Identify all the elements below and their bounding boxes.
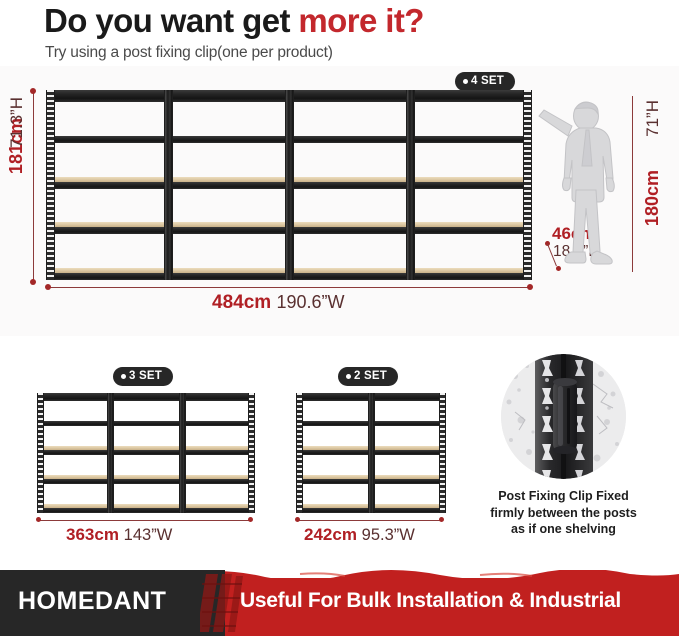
page-subtitle: Try using a post fixing clip(one per pro… bbox=[45, 44, 333, 62]
shelf-upright-post bbox=[439, 393, 446, 513]
dim-dot-2set-left bbox=[295, 517, 300, 522]
width-3set-metric-value: 363cm bbox=[66, 525, 119, 544]
shelf-beam bbox=[409, 136, 530, 143]
post-fixing-clip-photo bbox=[501, 354, 626, 479]
width-3set-imperial-value: 143”W bbox=[124, 526, 173, 544]
dim-dot-2set-right bbox=[439, 517, 444, 522]
dim-label-person-imperial: 71”H bbox=[643, 100, 663, 137]
shelving-rack-2-set bbox=[296, 393, 444, 513]
shelf-beam bbox=[288, 227, 409, 234]
shelf-level bbox=[37, 475, 109, 484]
shelf-level bbox=[46, 268, 167, 280]
shelf-level bbox=[181, 421, 253, 426]
shelf-level bbox=[370, 393, 444, 401]
shelf-level bbox=[370, 446, 444, 455]
shelf-level bbox=[409, 268, 530, 280]
shelf-beam bbox=[167, 90, 288, 102]
headline-black-part: Do you want get bbox=[44, 2, 298, 39]
shelf-level bbox=[37, 393, 109, 401]
shelf-level bbox=[37, 446, 109, 455]
shelf-beam bbox=[37, 393, 109, 401]
badge-4-set: 4 SET bbox=[455, 72, 515, 91]
shelf-level bbox=[46, 136, 167, 143]
clip-caption: Post Fixing Clip Fixed firmly between th… bbox=[486, 488, 641, 538]
shelf-level bbox=[409, 136, 530, 143]
clip-caption-line-1: Post Fixing Clip Fixed bbox=[486, 488, 641, 505]
shelf-beam bbox=[109, 421, 181, 426]
width-imperial-value: 190.6”W bbox=[276, 292, 344, 312]
headline-red-part: more it? bbox=[298, 2, 423, 39]
shelf-upright-post bbox=[296, 393, 303, 513]
width-metric-value: 484cm bbox=[212, 292, 271, 313]
shelf-beam bbox=[409, 90, 530, 102]
shelf-upright-post bbox=[285, 90, 294, 280]
dim-dot-width-left bbox=[45, 284, 51, 290]
shelf-level bbox=[296, 475, 370, 484]
dim-dot-3set-right bbox=[248, 517, 253, 522]
shelf-upright-post bbox=[368, 393, 375, 513]
dim-dot-3set-left bbox=[36, 517, 41, 522]
shelf-bay bbox=[109, 393, 181, 513]
shelf-level bbox=[37, 504, 109, 513]
shelf-level bbox=[46, 90, 167, 102]
shelf-beam bbox=[37, 421, 109, 426]
shelf-beam bbox=[46, 90, 167, 102]
shelf-beam bbox=[46, 136, 167, 143]
shelf-level bbox=[167, 177, 288, 189]
shelf-upright-post bbox=[37, 393, 44, 513]
shelf-bay bbox=[37, 393, 109, 513]
shelf-level bbox=[46, 222, 167, 234]
shelf-beam bbox=[167, 273, 288, 280]
shelf-level bbox=[409, 177, 530, 189]
dim-label-width-3set: 363cm 143”W bbox=[66, 525, 172, 545]
dim-line-person-height bbox=[632, 96, 633, 272]
shelf-beam bbox=[409, 182, 530, 189]
dim-line-width-3set bbox=[39, 520, 251, 521]
shelf-bay bbox=[288, 90, 409, 280]
shelf-beam bbox=[370, 421, 444, 426]
shelf-level bbox=[181, 475, 253, 484]
shelf-beam bbox=[109, 393, 181, 401]
dim-label-width: 484cm 190.6”W bbox=[212, 292, 344, 314]
shelf-level bbox=[409, 90, 530, 102]
shelf-level bbox=[296, 504, 370, 513]
shelf-bay bbox=[296, 393, 370, 513]
badge-2-set: 2 SET bbox=[338, 367, 398, 386]
clip-caption-line-2: firmly between the posts bbox=[486, 505, 641, 522]
shelf-beam bbox=[370, 479, 444, 484]
shelf-beam bbox=[181, 508, 253, 513]
shelf-beam bbox=[167, 227, 288, 234]
width-2set-metric-value: 242cm bbox=[304, 525, 357, 544]
shelf-beam bbox=[296, 479, 370, 484]
shelf-level bbox=[109, 421, 181, 426]
shelf-beam bbox=[370, 393, 444, 401]
shelf-level bbox=[288, 136, 409, 143]
shelf-beam bbox=[409, 227, 530, 234]
shelf-level bbox=[167, 90, 288, 102]
bullet-dot-icon bbox=[346, 374, 351, 379]
shelf-level bbox=[288, 177, 409, 189]
shelf-beam bbox=[167, 182, 288, 189]
shelf-beam bbox=[296, 421, 370, 426]
shelf-level bbox=[409, 222, 530, 234]
shelf-beam bbox=[109, 508, 181, 513]
shelf-level bbox=[181, 504, 253, 513]
dim-label-height-imperial-text: 71.3”H bbox=[7, 97, 27, 148]
shelf-upright-post bbox=[46, 90, 55, 280]
shelf-level bbox=[181, 446, 253, 455]
shelf-beam bbox=[296, 508, 370, 513]
shelving-rack-3-set bbox=[37, 393, 253, 513]
brand-logo: HOMEDANT bbox=[18, 587, 166, 616]
mid-section: 3 SET 363cm 143”W 2 SET 242cm 95.3”W bbox=[0, 336, 679, 566]
shelf-beam bbox=[46, 182, 167, 189]
clip-caption-line-3: as if one shelving bbox=[486, 521, 641, 538]
shelf-beam bbox=[37, 508, 109, 513]
badge-4-set-label: 4 SET bbox=[471, 75, 504, 87]
shelf-level bbox=[288, 222, 409, 234]
shelf-beam bbox=[181, 450, 253, 455]
shelf-bay bbox=[46, 90, 167, 280]
shelf-level bbox=[46, 177, 167, 189]
shelf-beam bbox=[288, 136, 409, 143]
shelf-bay bbox=[370, 393, 444, 513]
shelf-level bbox=[109, 446, 181, 455]
shelf-beam bbox=[370, 450, 444, 455]
shelf-level bbox=[370, 504, 444, 513]
shelf-beam bbox=[167, 136, 288, 143]
footer-tagline: Useful For Bulk Installation & Industria… bbox=[240, 589, 621, 613]
badge-2-set-label: 2 SET bbox=[354, 370, 387, 382]
shelf-beam bbox=[370, 508, 444, 513]
shelf-level bbox=[37, 421, 109, 426]
shelf-beam bbox=[109, 479, 181, 484]
width-2set-imperial-value: 95.3”W bbox=[362, 526, 415, 544]
person-height-imperial-value: 71”H bbox=[643, 100, 662, 137]
shelf-bay bbox=[167, 90, 288, 280]
shelf-beam bbox=[181, 421, 253, 426]
shelf-beam bbox=[181, 393, 253, 401]
shelf-level bbox=[167, 222, 288, 234]
shelving-rack-4-set bbox=[46, 90, 530, 280]
shelf-upright-post bbox=[248, 393, 255, 513]
shelf-bay bbox=[409, 90, 530, 280]
shelf-bay bbox=[181, 393, 253, 513]
bullet-dot-icon bbox=[121, 374, 126, 379]
shelf-level bbox=[296, 421, 370, 426]
dim-dot-width-right bbox=[527, 284, 533, 290]
shelf-beam bbox=[409, 273, 530, 280]
dim-line-height-left bbox=[33, 90, 34, 282]
shelf-beam bbox=[109, 450, 181, 455]
product-infographic: Do you want get more it? Try using a pos… bbox=[0, 0, 679, 636]
dim-line-width-2set bbox=[298, 520, 442, 521]
shelf-beam bbox=[296, 450, 370, 455]
shelf-level bbox=[370, 421, 444, 426]
shelf-beam bbox=[288, 90, 409, 102]
shelf-level bbox=[296, 446, 370, 455]
page-title: Do you want get more it? bbox=[44, 2, 424, 40]
shelf-upright-post bbox=[107, 393, 114, 513]
shelf-level bbox=[167, 136, 288, 143]
badge-3-set: 3 SET bbox=[113, 367, 173, 386]
dim-dot-height-bottom bbox=[30, 279, 36, 285]
shelf-beam bbox=[181, 479, 253, 484]
hero-section: Do you want get more it? Try using a pos… bbox=[0, 0, 679, 336]
badge-3-set-label: 3 SET bbox=[129, 370, 162, 382]
bullet-dot-icon bbox=[463, 79, 468, 84]
shelf-upright-post bbox=[523, 90, 532, 280]
footer-bar: HOMEDANT Useful For Bulk Installation & … bbox=[0, 570, 679, 636]
shelf-upright-post bbox=[179, 393, 186, 513]
shelf-level bbox=[109, 393, 181, 401]
clip-photo-graphic bbox=[501, 354, 626, 479]
shelf-level bbox=[109, 475, 181, 484]
shelf-level bbox=[370, 475, 444, 484]
shelf-level bbox=[288, 268, 409, 280]
shelf-beam bbox=[37, 479, 109, 484]
shelf-beam bbox=[37, 450, 109, 455]
dim-dot-height-top bbox=[30, 88, 36, 94]
shelf-level bbox=[288, 90, 409, 102]
shelf-level bbox=[109, 504, 181, 513]
dim-label-person-metric: 180cm bbox=[642, 170, 663, 226]
shelf-beam bbox=[46, 273, 167, 280]
shelf-beam bbox=[296, 393, 370, 401]
shelf-upright-post bbox=[164, 90, 173, 280]
shelf-level bbox=[296, 393, 370, 401]
shelf-beam bbox=[288, 182, 409, 189]
shelf-beam bbox=[288, 273, 409, 280]
height-imperial-value: 71.3”H bbox=[7, 97, 26, 148]
shelf-upright-post bbox=[406, 90, 415, 280]
dim-label-width-2set: 242cm 95.3”W bbox=[304, 525, 415, 545]
shelf-beam bbox=[46, 227, 167, 234]
dim-line-width-bottom bbox=[48, 287, 530, 288]
man-silhouette-icon bbox=[528, 92, 638, 282]
shelf-level bbox=[181, 393, 253, 401]
person-height-metric-value: 180cm bbox=[642, 170, 662, 226]
shelf-level bbox=[167, 268, 288, 280]
